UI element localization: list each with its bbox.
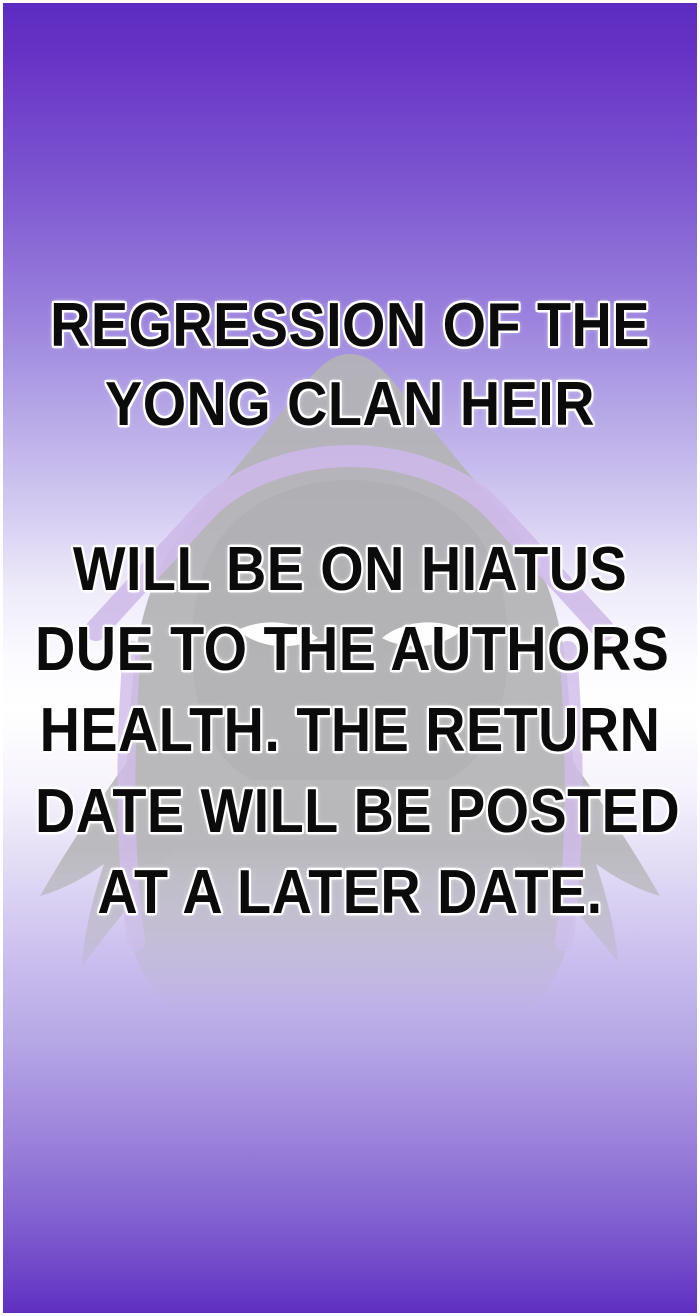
announcement-panel: REGRESSION OF THE YONG CLAN HEIR WILL BE… bbox=[0, 0, 700, 1316]
body-line-2: DUE TO THE AUTHORS bbox=[35, 620, 665, 681]
title-line-1: REGRESSION OF THE bbox=[35, 296, 665, 357]
body-line-1: WILL BE ON HIATUS bbox=[35, 540, 665, 601]
title-line-2: YONG CLAN HEIR bbox=[35, 375, 665, 436]
announcement-text-block: REGRESSION OF THE YONG CLAN HEIR WILL BE… bbox=[0, 0, 700, 1316]
body-line-5: AT A LATER DATE. bbox=[35, 863, 665, 924]
body-line-3: HEALTH. THE RETURN bbox=[35, 701, 665, 762]
body-line-4: DATE WILL BE POSTED bbox=[35, 782, 665, 843]
